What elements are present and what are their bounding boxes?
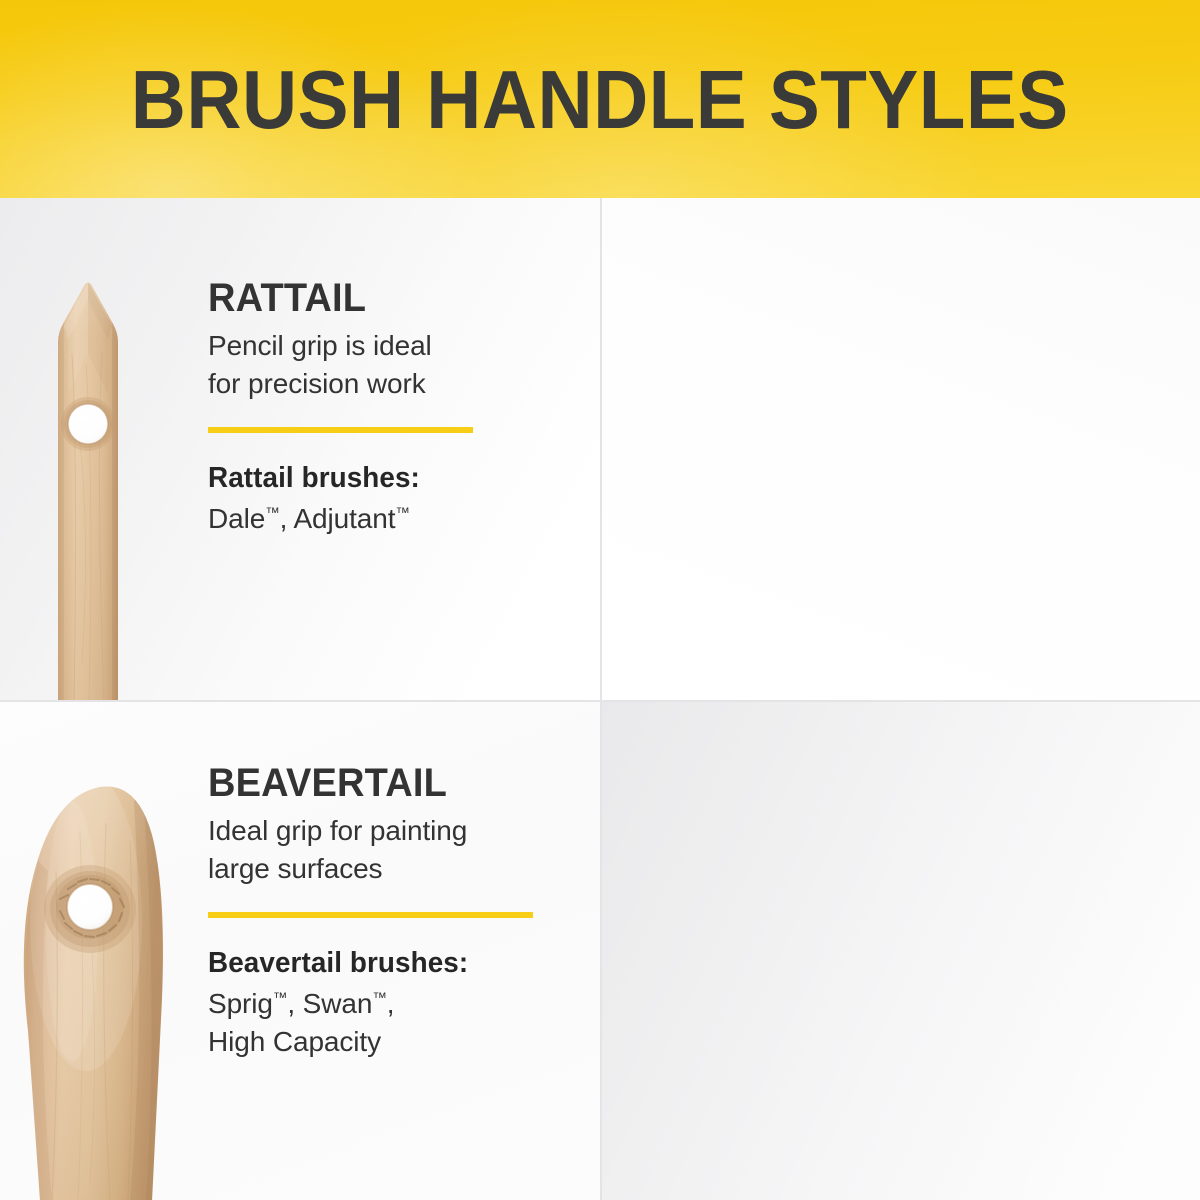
rattail-brushes-list: Dale™, Adjutant™ [208, 500, 508, 538]
rattail-title: RATTAIL [208, 278, 493, 318]
panel-beavertail: BEAVERTAIL Ideal grip for painting large… [0, 701, 600, 1200]
panel-fluted: FLUTED Rests easily in your hand Fluted … [600, 198, 1200, 701]
beavertail-accent-rule [208, 912, 533, 918]
beavertail-brand-line-2: High Capacity [208, 1023, 548, 1061]
rattail-brand-line-1: Dale™, Adjutant™ [208, 500, 508, 538]
rattail-description: Pencil grip is ideal for precision work [208, 327, 508, 403]
beavertail-description: Ideal grip for painting large surfaces [208, 812, 548, 888]
vertical-divider [600, 198, 602, 1200]
rattail-accent-rule [208, 427, 473, 433]
rattail-brushes-label: Rattail brushes: [208, 463, 496, 495]
beavertail-desc-line-1: Ideal grip for painting [208, 812, 548, 850]
panel-rattail: RATTAIL Pencil grip is ideal for precisi… [0, 198, 600, 701]
beavertail-brushes-list: Sprig™, Swan™, High Capacity [208, 985, 548, 1061]
infographic-root: BRUSH HANDLE STYLES [0, 0, 1200, 1200]
beavertail-title: BEAVERTAIL [208, 763, 531, 803]
beavertail-text-block: BEAVERTAIL Ideal grip for painting large… [208, 763, 548, 1061]
rattail-text-block: RATTAIL Pencil grip is ideal for precisi… [208, 278, 508, 538]
beavertail-brand-line-1: Sprig™, Swan™, [208, 985, 548, 1023]
horizontal-divider [0, 700, 1200, 702]
page-title: BRUSH HANDLE STYLES [131, 58, 1069, 141]
rattail-desc-line-1: Pencil grip is ideal [208, 327, 508, 365]
beavertail-desc-line-2: large surfaces [208, 850, 548, 888]
header-banner: BRUSH HANDLE STYLES [0, 0, 1200, 198]
rattail-desc-line-2: for precision work [208, 365, 508, 403]
panel-short: SHORT Handle won’t get in the way when p… [600, 701, 1200, 1200]
beavertail-brushes-label: Beavertail brushes: [208, 948, 534, 980]
